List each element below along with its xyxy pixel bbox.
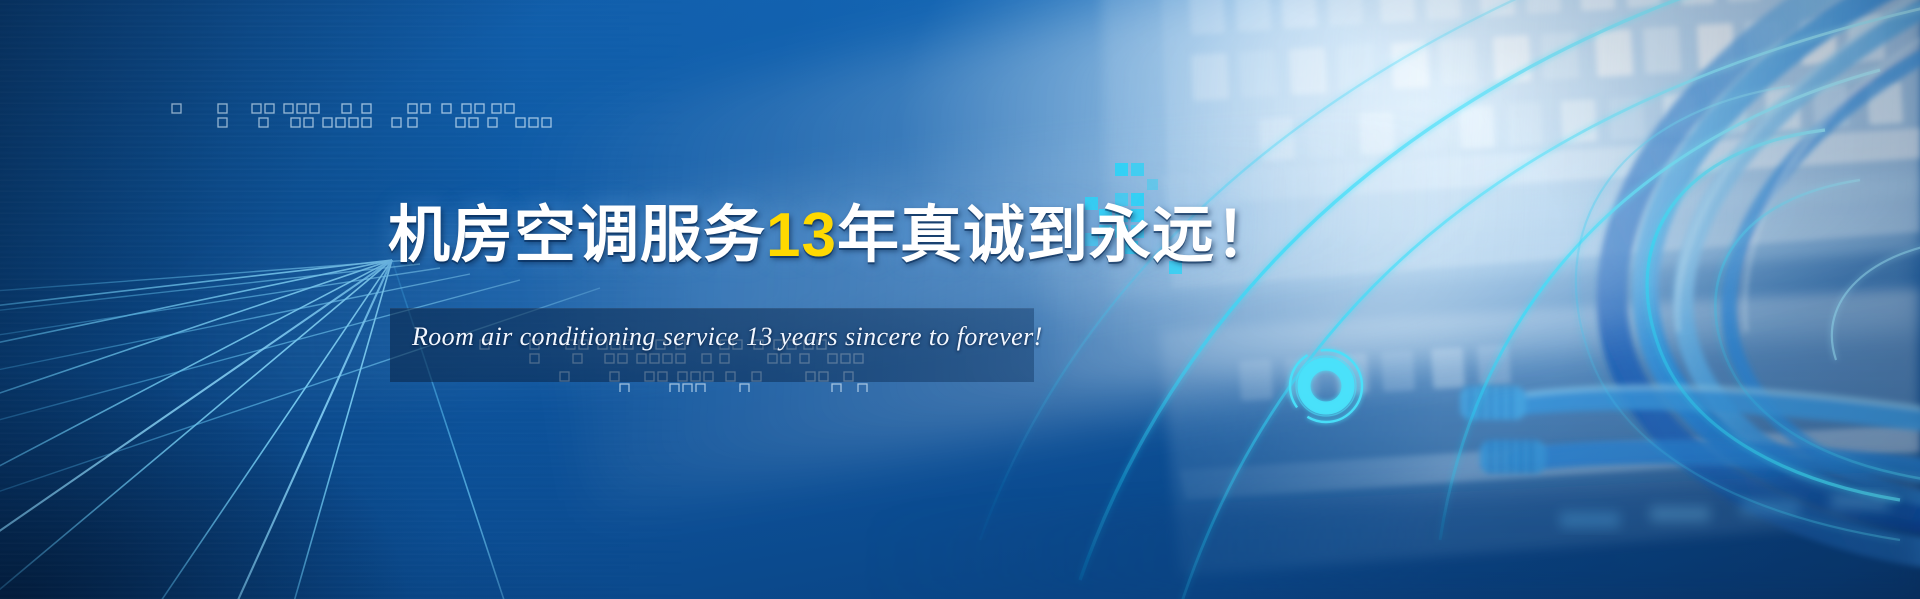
promo-banner: 机房空调服务13年真诚到永远！ Room air conditioning se… — [0, 0, 1920, 599]
headline-years-number: 13 — [766, 201, 837, 270]
headline-prefix: 机房空调服务 — [388, 201, 766, 270]
subtitle: Room air conditioning service 13 years s… — [412, 322, 1024, 352]
headline-suffix: 年真诚到永远！ — [837, 201, 1278, 270]
page-title: 机房空调服务13年真诚到永远！ — [388, 205, 1278, 267]
perspective-grid — [0, 230, 960, 599]
